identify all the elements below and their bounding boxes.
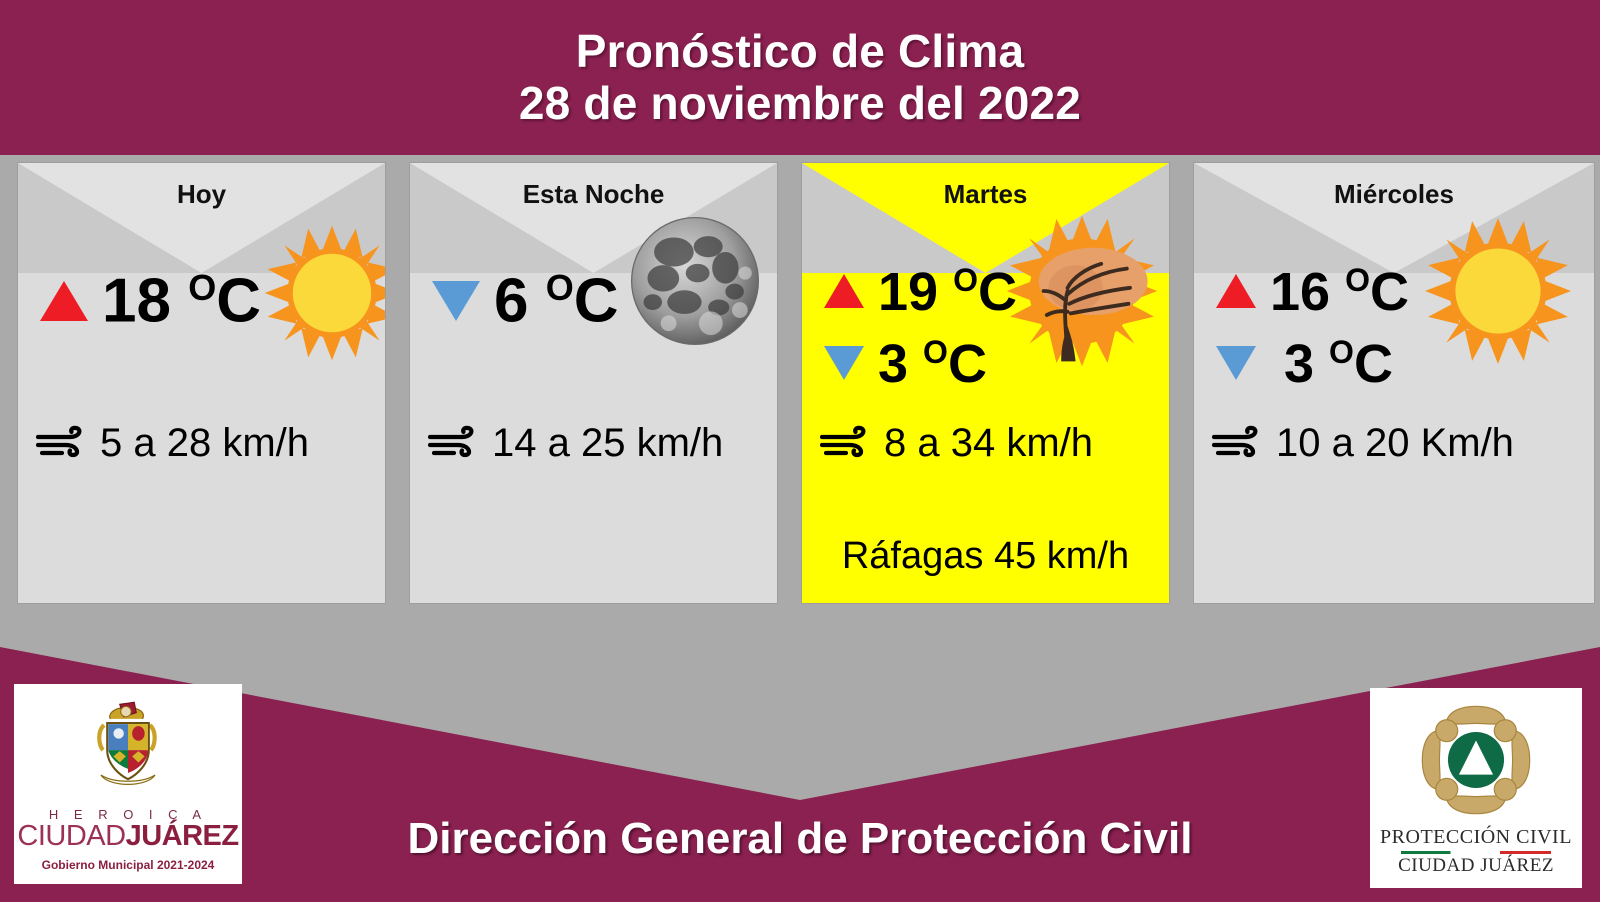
high-temp-row: 19 OC (824, 255, 1017, 327)
card-day-label: Martes (802, 179, 1169, 210)
low-temp-row: 3 OC (1216, 327, 1409, 399)
low-temp-value: 3 OC (1284, 336, 1393, 391)
page-title-line1: Pronóstico de Clima (576, 26, 1025, 78)
temperature-block: 19 OC 3 OC (802, 255, 1169, 405)
wind-row: 14 a 25 km/h (428, 421, 771, 466)
low-temp-row: 3 OC (824, 327, 1017, 399)
temperature-block: 6 OC (410, 255, 777, 405)
low-temp-down-triangle-icon (824, 346, 864, 380)
card-day-label: Miércoles (1194, 179, 1594, 210)
low-temp-down-triangle-icon (432, 281, 480, 321)
high-temp-row: 18 OC (40, 255, 261, 347)
high-temp-up-triangle-icon (824, 274, 864, 308)
wind-text: 8 a 34 km/h (884, 421, 1093, 466)
logo-ciudad-juarez-text: CIUDADJUÁREZ (17, 822, 238, 851)
page-title-line2: 28 de noviembre del 2022 (519, 78, 1081, 130)
wind-icon (820, 421, 874, 466)
wind-text: 10 a 20 Km/h (1276, 421, 1514, 466)
high-temp-row: 16 OC (1216, 255, 1409, 327)
temperature-block: 18 OC (18, 255, 385, 405)
low-temp-value: 6 OC (494, 270, 619, 333)
civil-protection-emblem-icon (1415, 699, 1537, 826)
header: Pronóstico de Clima 28 de noviembre del … (0, 0, 1600, 155)
card-day-label: Hoy (18, 179, 385, 210)
forecast-card-miercoles[interactable]: Miércoles (1194, 163, 1594, 603)
logo-proteccion-civil: PROTECCIÓN CIVIL CIUDAD JUÁREZ (1370, 688, 1582, 888)
wind-icon (1212, 421, 1266, 466)
wind-icon (36, 421, 90, 466)
low-temp-row: 6 OC (432, 255, 619, 347)
wind-text: 14 a 25 km/h (492, 421, 723, 466)
low-temp-value: 3 OC (878, 336, 987, 391)
high-temp-value: 18 OC (102, 270, 261, 333)
temperature-block: 16 OC 3 OC (1194, 255, 1594, 405)
forecast-card-martes[interactable]: Martes (802, 163, 1169, 603)
wind-row: 10 a 20 Km/h (1212, 421, 1588, 466)
forecast-cards: Hoy 18 (0, 163, 1600, 603)
wind-icon (428, 421, 482, 466)
high-temp-value: 19 OC (878, 264, 1017, 319)
wind-text: 5 a 28 km/h (100, 421, 309, 466)
low-temp-down-triangle-icon (1216, 346, 1256, 380)
wind-row: 8 a 34 km/h (820, 421, 1163, 466)
gust-text: Ráfagas 45 km/h (802, 535, 1169, 578)
high-temp-up-triangle-icon (40, 281, 88, 321)
coat-of-arms-icon (76, 696, 180, 805)
card-day-label: Esta Noche (410, 179, 777, 210)
mexico-flag-divider (1401, 851, 1551, 854)
proteccion-civil-title: PROTECCIÓN CIVIL (1380, 826, 1572, 849)
high-temp-value: 16 OC (1270, 264, 1409, 319)
forecast-card-hoy[interactable]: Hoy 18 (18, 163, 385, 603)
proteccion-civil-subtitle: CIUDAD JUÁREZ (1398, 855, 1554, 877)
logo-gobierno-text: Gobierno Municipal 2021-2024 (42, 858, 215, 872)
wind-row: 5 a 28 km/h (36, 421, 379, 466)
forecast-card-esta-noche[interactable]: Esta Noche (410, 163, 777, 603)
high-temp-up-triangle-icon (1216, 274, 1256, 308)
logo-ciudad-juarez: H E R O I C A CIUDADJUÁREZ Gobierno Muni… (14, 684, 242, 884)
